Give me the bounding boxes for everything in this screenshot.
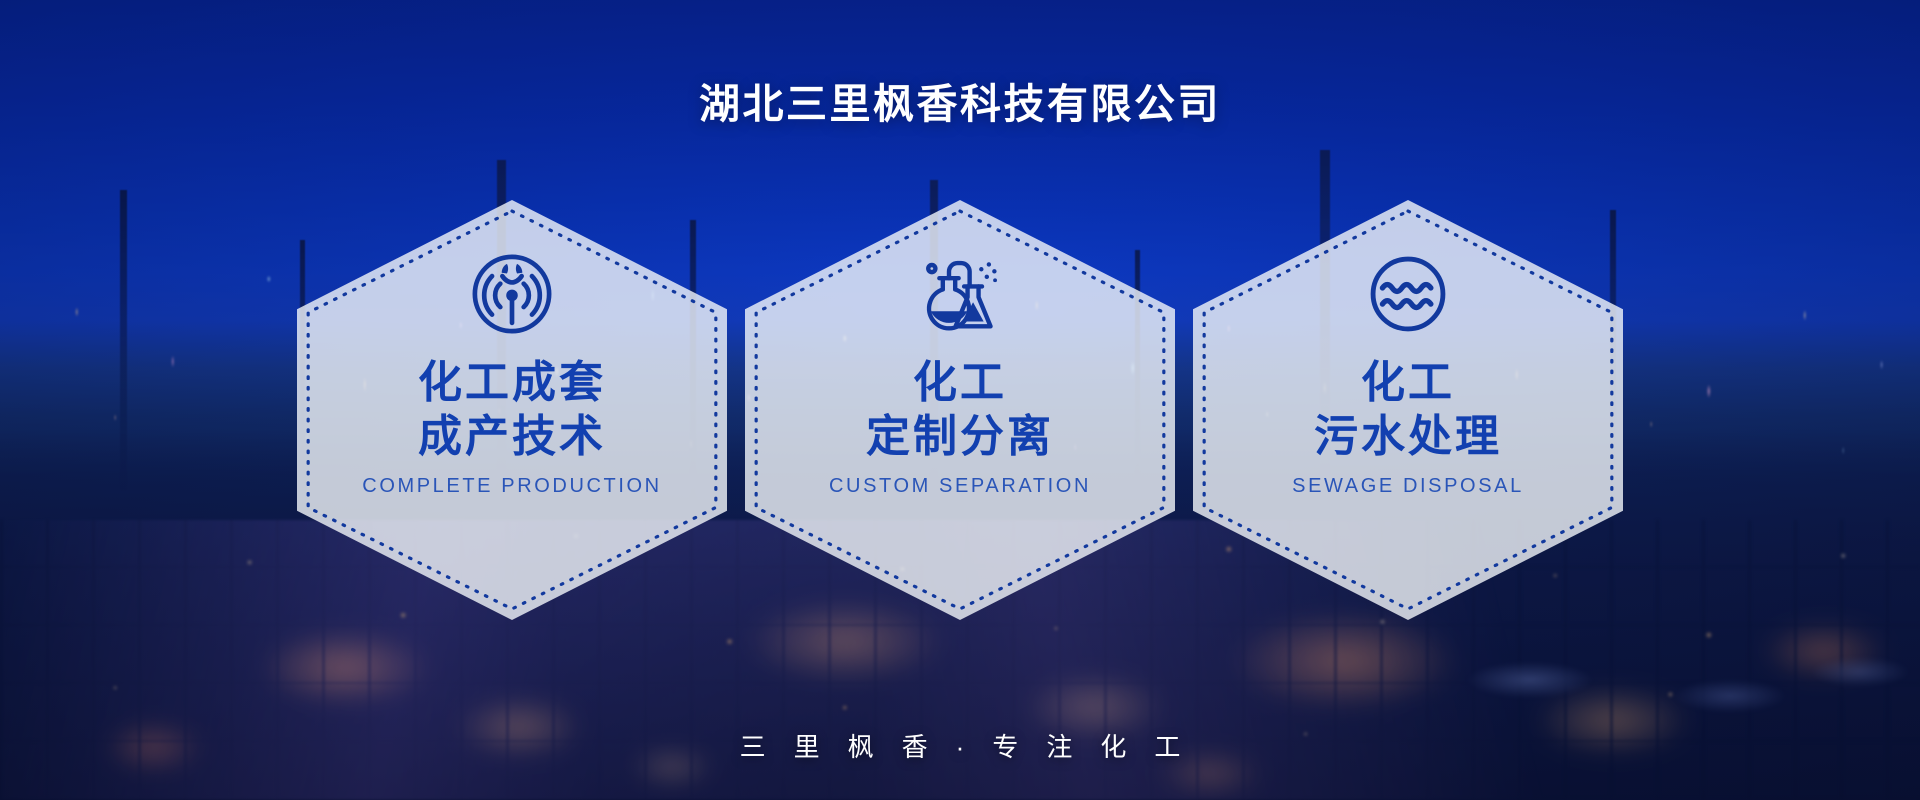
hexagon-content: 化工 污水处理 SEWAGE DISPOSAL [1193,200,1623,620]
footer-slogan: 三里枫香·专注化工 [0,727,1920,764]
water-waves-icon [1362,248,1454,340]
service-title-cn: 化工 污水处理 [1314,356,1502,463]
hexagon-content: 化工成套 成产技术 COMPLETE PRODUCTION [297,200,727,620]
service-title-cn-line2: 定制分离 [866,410,1054,464]
service-title-en: CUSTOM SEPARATION [829,475,1091,498]
service-title-en: SEWAGE DISPOSAL [1292,475,1524,498]
broadcast-signal-icon [466,248,558,340]
service-card-custom-separation[interactable]: 化工 定制分离 CUSTOM SEPARATION [745,200,1175,620]
service-title-cn-line2: 成产技术 [418,410,606,464]
service-card-complete-production[interactable]: 化工成套 成产技术 COMPLETE PRODUCTION [297,200,727,620]
service-title-cn-line1: 化工 [866,356,1054,410]
service-card-sewage-disposal[interactable]: 化工 污水处理 SEWAGE DISPOSAL [1193,200,1623,620]
hexagon-content: 化工 定制分离 CUSTOM SEPARATION [745,200,1175,620]
hero-banner: 湖北三里枫香科技有限公司 [0,0,1920,800]
company-title: 湖北三里枫香科技有限公司 [0,0,1920,200]
service-title-cn-line1: 化工成套 [418,356,606,410]
service-title-cn-line2: 污水处理 [1314,410,1502,464]
service-title-cn-line1: 化工 [1314,356,1502,410]
service-title-cn: 化工 定制分离 [866,356,1054,463]
lab-flasks-icon [914,248,1006,340]
service-card-row: 化工成套 成产技术 COMPLETE PRODUCTION [0,200,1920,640]
service-title-cn: 化工成套 成产技术 [418,356,606,463]
service-title-en: COMPLETE PRODUCTION [362,475,661,498]
